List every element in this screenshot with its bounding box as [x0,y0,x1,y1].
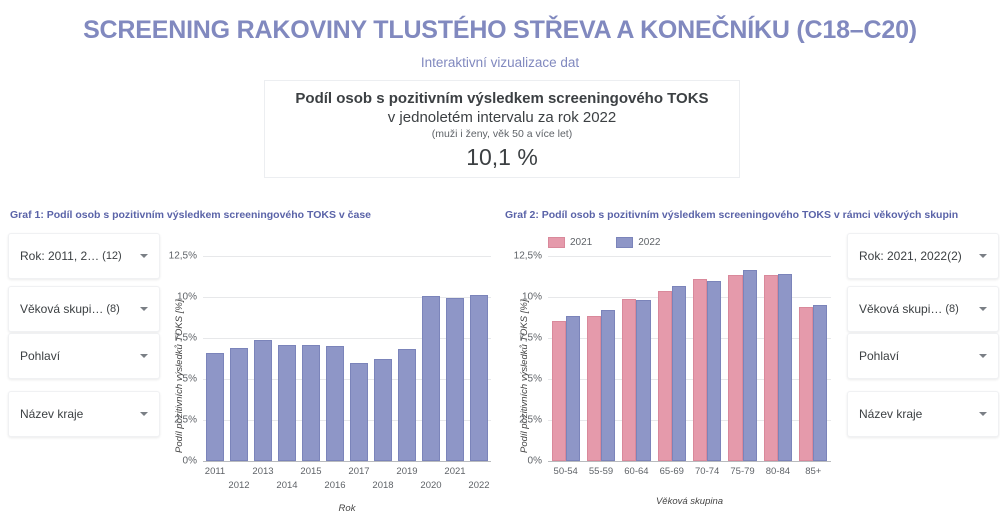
bar[interactable] [813,305,827,461]
bar[interactable] [254,340,271,461]
bar[interactable] [470,295,487,461]
legend-item[interactable]: 2021 [548,237,592,248]
graf1-chart[interactable]: Podíl pozitivních výsledků TOKS [%] 0%2,… [160,238,500,513]
gridline [548,256,831,257]
graf1-plot-area: 0%2,5%5%7,5%10%12,5%20112012201320142015… [203,256,491,461]
kpi-line-1: Podíl osob s pozitivním výsledkem screen… [295,89,708,108]
chevron-down-icon[interactable] [979,254,987,258]
bar[interactable] [302,345,319,461]
legend-swatch [548,237,565,248]
bar[interactable] [552,321,566,461]
graf2-legend: 20212022 [548,237,679,248]
x-axis-tick: 2017 [336,466,382,477]
bar[interactable] [778,274,792,461]
y-axis-tick: 5% [167,374,197,385]
y-axis-tick: 2,5% [167,415,197,426]
page-subtitle: Interaktivní vizualizace dat [0,55,1000,70]
x-axis-line [203,461,491,462]
y-axis-tick: 2,5% [512,415,542,426]
chevron-down-icon[interactable] [140,412,148,416]
filter-vekova-skupina-right[interactable]: Věková skupi… (8) [847,286,999,332]
filter-rok-right-label: Rok: 2021, 2022(2) [859,249,962,263]
bar[interactable] [636,300,650,461]
filter-rok-left-count: (12) [102,250,122,262]
y-axis-tick: 0% [512,456,542,467]
filter-pohlavi-left-label: Pohlaví [20,349,60,363]
kpi-line-2: v jednoletém intervalu za rok 2022 [388,108,616,127]
x-axis-tick: 2012 [216,480,262,491]
x-axis-tick: 85+ [780,466,847,477]
legend-swatch [616,237,633,248]
bar[interactable] [587,316,601,461]
filter-nazev-kraje-right[interactable]: Název kraje [847,391,999,437]
bar[interactable] [601,310,615,461]
y-axis-tick: 7,5% [512,333,542,344]
filter-pohlavi-left[interactable]: Pohlaví [8,333,160,379]
filter-pohlavi-right-label: Pohlaví [859,349,899,363]
y-axis-tick: 12,5% [512,251,542,262]
graf2-chart[interactable]: 20212022 Podíl pozitivních výsledků TOKS… [500,238,840,513]
bar[interactable] [278,345,295,461]
bar[interactable] [799,307,813,461]
x-axis-tick: 2015 [288,466,334,477]
legend-label: 2021 [570,237,592,248]
bar[interactable] [622,299,636,461]
bar[interactable] [764,275,778,461]
x-axis-tick: 2013 [240,466,286,477]
bar[interactable] [398,349,415,461]
y-axis-tick: 10% [512,292,542,303]
bar[interactable] [672,286,686,461]
bar[interactable] [743,270,757,461]
bar[interactable] [326,346,343,461]
y-axis-tick: 5% [512,374,542,385]
bar[interactable] [728,275,742,461]
x-axis-tick: 2014 [264,480,310,491]
filter-rok-right[interactable]: Rok: 2021, 2022(2) [847,233,999,279]
bar[interactable] [422,296,439,461]
filter-rok-left[interactable]: Rok: 2011, 2… (12) [8,233,160,279]
x-axis-tick: 2011 [192,466,238,477]
x-axis-tick: 2022 [456,480,502,491]
x-axis-tick: 2016 [312,480,358,491]
y-axis-tick: 0% [167,456,197,467]
chevron-down-icon[interactable] [140,354,148,358]
page-title: SCREENING RAKOVINY TLUSTÉHO STŘEVA A KON… [0,16,1000,45]
bar[interactable] [230,348,247,461]
filter-nazev-kraje-left[interactable]: Název kraje [8,391,160,437]
kpi-value: 10,1 % [466,143,538,172]
kpi-line-3: (muži i ženy, věk 50 a více let) [432,127,572,142]
filter-nazev-kraje-left-label: Název kraje [20,407,83,421]
bar[interactable] [374,359,391,462]
filter-nazev-kraje-right-label: Název kraje [859,407,922,421]
x-axis-tick: 2020 [408,480,454,491]
x-axis-tick: 2021 [432,466,478,477]
chevron-down-icon[interactable] [979,412,987,416]
bar[interactable] [707,281,721,461]
x-axis-line [548,461,831,462]
kpi-card: Podíl osob s pozitivním výsledkem screen… [264,80,740,178]
y-axis-tick: 12,5% [167,251,197,262]
chevron-down-icon[interactable] [979,354,987,358]
bar[interactable] [693,279,707,461]
graf1-caption: Graf 1: Podíl osob s pozitivním výsledke… [10,209,371,221]
legend-item[interactable]: 2022 [616,237,660,248]
bar[interactable] [446,298,463,461]
bar[interactable] [206,353,223,461]
graf1-x-axis-label: Rok [203,503,491,514]
filter-vekova-skupina-left-count: (8) [106,303,119,315]
filter-rok-left-label: Rok: 2011, 2… [20,249,99,263]
filter-vekova-skupina-right-count: (8) [945,303,958,315]
filter-pohlavi-right[interactable]: Pohlaví [847,333,999,379]
legend-label: 2022 [638,237,660,248]
filter-vekova-skupina-left-label: Věková skupi… [20,302,103,316]
x-axis-tick: 2019 [384,466,430,477]
graf2-plot-area: 0%2,5%5%7,5%10%12,5%50-5455-5960-6465-69… [548,256,831,461]
filter-vekova-skupina-left[interactable]: Věková skupi… (8) [8,286,160,332]
dashboard-page: SCREENING RAKOVINY TLUSTÉHO STŘEVA A KON… [0,0,1000,523]
chevron-down-icon[interactable] [979,307,987,311]
bar[interactable] [350,363,367,461]
x-axis-tick: 2018 [360,480,406,491]
chevron-down-icon[interactable] [140,254,148,258]
chevron-down-icon[interactable] [140,307,148,311]
filter-vekova-skupina-right-label: Věková skupi… [859,302,942,316]
bar[interactable] [566,316,580,461]
y-axis-tick: 7,5% [167,333,197,344]
graf2-x-axis-label: Věková skupina [548,496,831,507]
bar[interactable] [658,291,672,461]
gridline [203,256,491,257]
graf2-caption: Graf 2: Podíl osob s pozitivním výsledke… [505,209,958,221]
y-axis-tick: 10% [167,292,197,303]
